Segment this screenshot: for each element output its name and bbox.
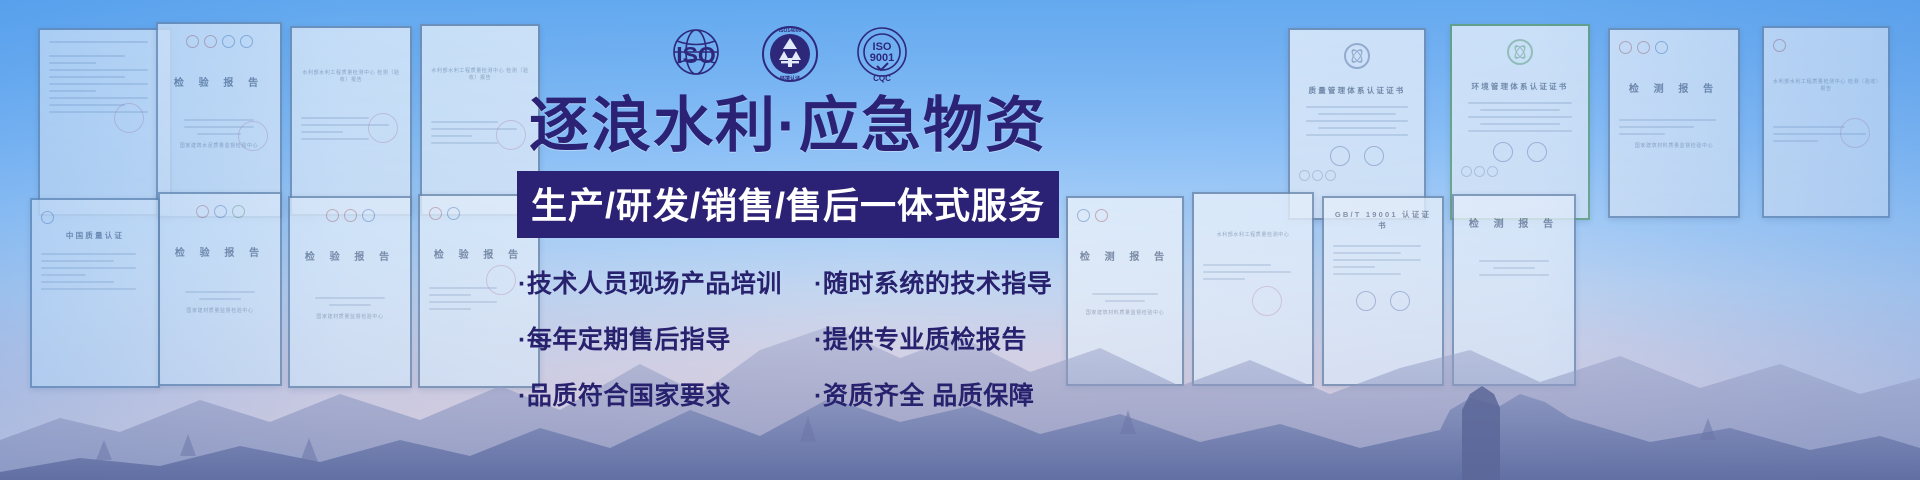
banner-content: ISO ISO14000 环境认证 xyxy=(508,22,1068,462)
bullet-item: ·提供专业质检报告 xyxy=(808,320,1058,356)
iso14000-badge: ISO14000 环境认证 xyxy=(761,25,819,83)
certificate-thumbnail: 水利部水利工程质量检测中心 检测（验收）报告 xyxy=(290,26,412,216)
bullet-item: ·资质齐全 品质保障 xyxy=(808,376,1058,412)
certificate-title: 检 验 报 告 xyxy=(167,74,271,89)
certificate-thumbnail: 环境管理体系认证证书 xyxy=(1450,24,1590,220)
feature-bullet-list: ·技术人员现场产品培训 ·随时系统的技术指导 ·每年定期售后指导 ·提供专业质检… xyxy=(508,264,1068,412)
certificate-thumbnail: 检 验 报 告 国家建筑水泥质量监督检验中心 xyxy=(156,22,282,218)
service-subtitle-bar: 生产/研发/销售/售后一体式服务 xyxy=(517,171,1059,238)
bullet-item: ·品质符合国家要求 xyxy=(518,376,808,412)
certificate-title: 环境管理体系认证证书 xyxy=(1461,81,1579,92)
certificate-thumbnail: 水利部水利工程质量检测中心 检测（验收）报告 xyxy=(1762,26,1890,218)
certificate-title: 检 测 报 告 xyxy=(1619,80,1729,95)
svg-text:ISO14000: ISO14000 xyxy=(779,28,802,34)
svg-text:环境认证: 环境认证 xyxy=(780,75,800,82)
bullet-item: ·技术人员现场产品培训 xyxy=(518,264,808,300)
certificate-subtitle: 国家建筑材料质量监督检验中心 xyxy=(1619,142,1729,149)
certification-badges: ISO ISO14000 环境认证 xyxy=(508,22,1068,86)
svg-text:CQC: CQC xyxy=(873,74,891,83)
promotional-banner: 检 验 报 告 国家建筑水泥质量监督检验中心 水利部水利工程质量检测中心 检测（… xyxy=(0,0,1920,480)
bullet-item: ·随时系统的技术指导 xyxy=(808,264,1058,300)
iso9001-cqc-badge: ISO 9001 CQC xyxy=(853,25,911,83)
page-title: 逐浪水利·应急物资 xyxy=(508,94,1068,157)
certificate-title: 质量管理体系认证证书 xyxy=(1299,85,1415,96)
bullet-item: ·每年定期售后指导 xyxy=(518,320,808,356)
certificate-thumbnail: 检 测 报 告 国家建筑材料质量监督检验中心 xyxy=(1608,28,1740,218)
certificate-subtitle: 水利部水利工程质量检测中心 检测（验收）报告 xyxy=(301,69,401,83)
certificate-title: 检 验 报 告 xyxy=(169,244,271,259)
svg-text:ISO: ISO xyxy=(676,42,716,68)
certificate-subtitle: 水利部水利工程质量检测中心 检测（验收）报告 xyxy=(1773,78,1879,92)
svg-text:9001: 9001 xyxy=(870,52,894,64)
certificate-title: 检 验 报 告 xyxy=(299,248,401,263)
certificate-thumbnail xyxy=(38,28,172,216)
iso-badge: ISO xyxy=(665,26,727,82)
